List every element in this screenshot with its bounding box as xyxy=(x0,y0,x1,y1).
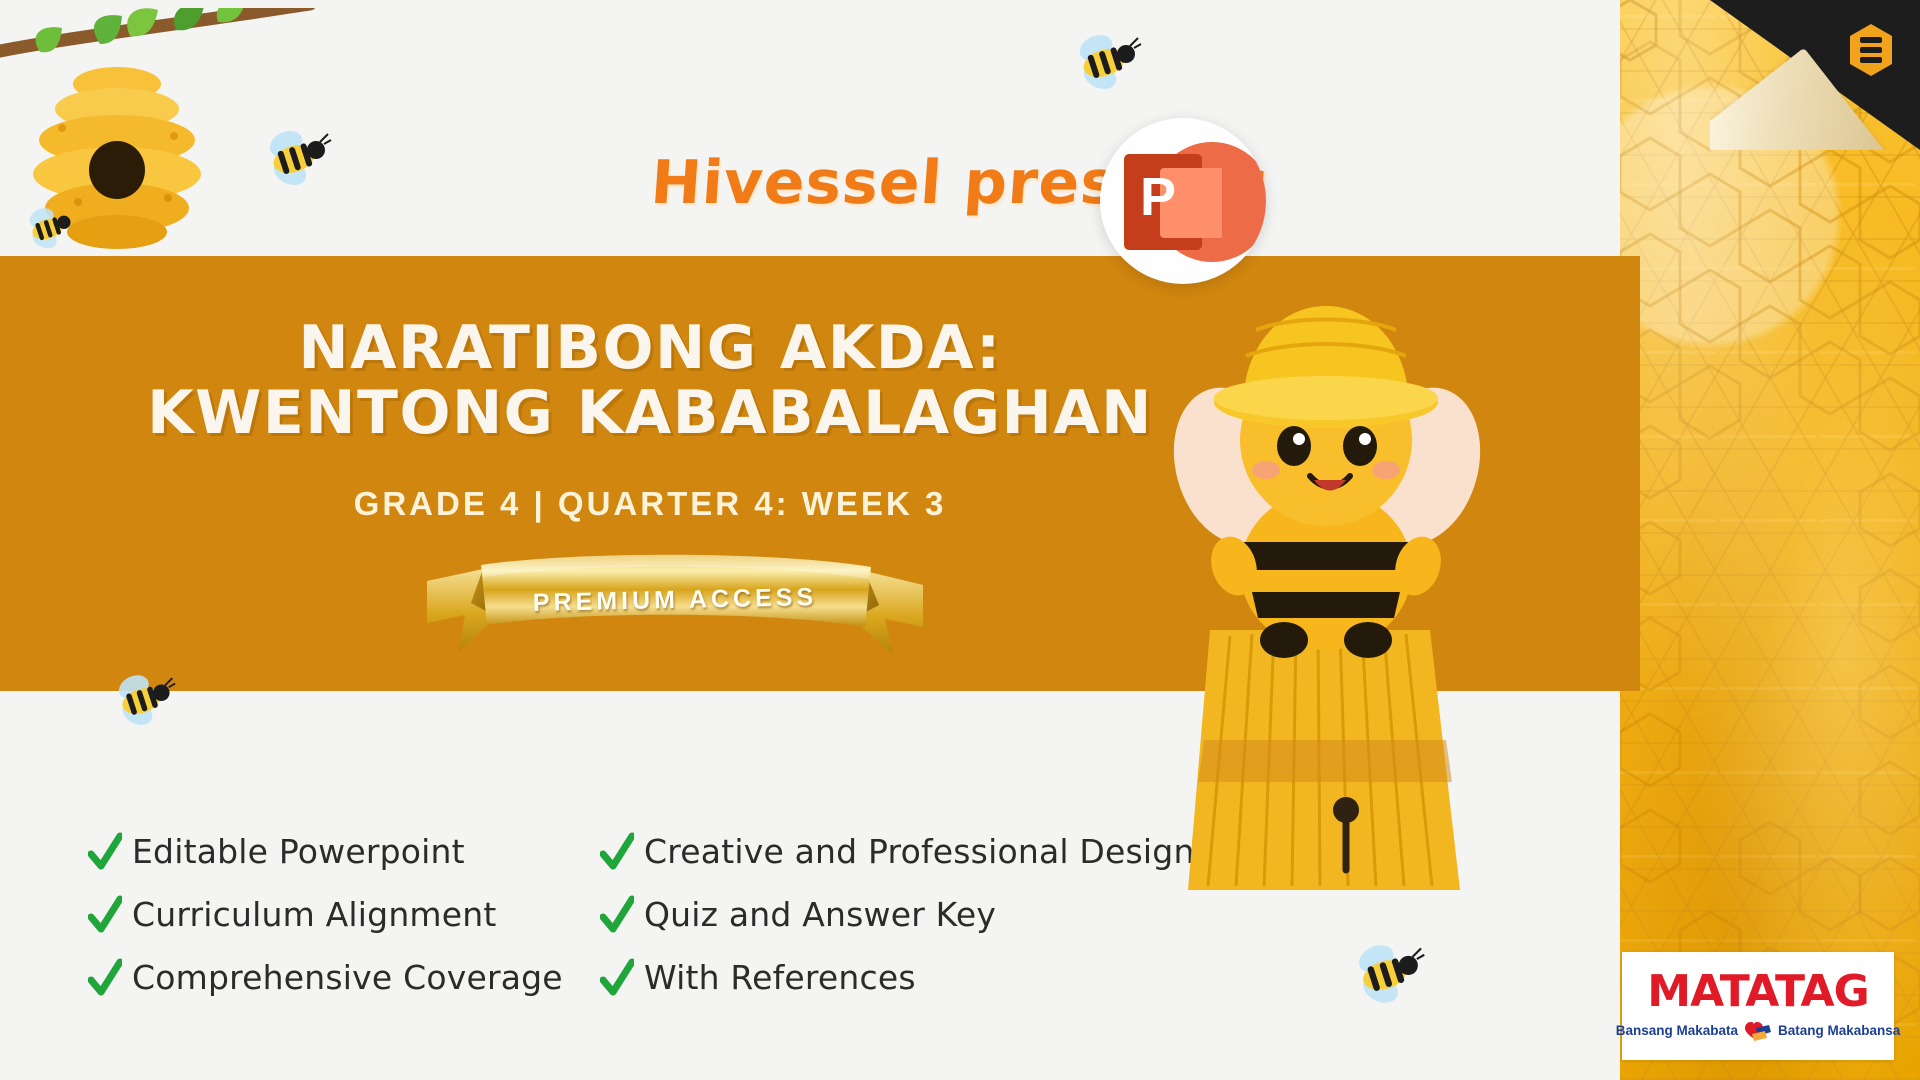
matatag-logo: MATATAG Bansang Makabata Batang Makabans… xyxy=(1622,952,1894,1060)
title-line-1: NARATIBONG AKDA: xyxy=(0,316,1300,381)
check-icon xyxy=(600,895,634,935)
powerpoint-letter: P xyxy=(1140,170,1176,224)
feature-label: Comprehensive Coverage xyxy=(132,958,563,997)
feature-label: With References xyxy=(644,958,916,997)
matatag-tagline: Bansang Makabata Batang Makabansa xyxy=(1616,1019,1901,1043)
page-title: NARATIBONG AKDA: KWENTONG KABABALAGHAN xyxy=(0,316,1300,446)
title-line-2: KWENTONG KABABALAGHAN xyxy=(0,381,1300,446)
hexagon-logo-icon xyxy=(1846,22,1896,78)
check-icon xyxy=(88,895,122,935)
feature-label: Creative and Professional Designs xyxy=(644,832,1212,871)
honeycomb-panel-icon xyxy=(1620,0,1920,1080)
matatag-tagline-left: Bansang Makabata xyxy=(1616,1023,1738,1038)
features-list: Editable Powerpoint Creative and Profess… xyxy=(88,820,1268,1009)
check-icon xyxy=(600,958,634,998)
bee-icon-4 xyxy=(1348,942,1426,1008)
feature-label: Curriculum Alignment xyxy=(132,895,497,934)
feature-item-curriculum-alignment: Curriculum Alignment xyxy=(88,883,588,946)
check-icon xyxy=(88,832,122,872)
check-icon xyxy=(600,832,634,872)
feature-item-comprehensive-coverage: Comprehensive Coverage xyxy=(88,946,588,1009)
matatag-wordmark: MATATAG xyxy=(1647,970,1868,1014)
feature-item-with-references: With References xyxy=(600,946,1220,1009)
powerpoint-icon: P xyxy=(1100,118,1266,284)
feature-item-quiz-answer-key: Quiz and Answer Key xyxy=(600,883,1220,946)
bee-icon-5 xyxy=(22,206,76,252)
feature-item-creative-designs: Creative and Professional Designs xyxy=(600,820,1220,883)
feature-label: Editable Powerpoint xyxy=(132,832,465,871)
bee-mascot-icon xyxy=(1160,270,1490,890)
check-icon xyxy=(88,958,122,998)
bee-icon-3 xyxy=(110,672,176,730)
feature-label: Quiz and Answer Key xyxy=(644,895,996,934)
title-subtitle: GRADE 4 | QUARTER 4: WEEK 3 xyxy=(0,485,1300,523)
feature-item-editable-powerpoint: Editable Powerpoint xyxy=(88,820,588,883)
premium-access-ribbon: PREMIUM ACCESS xyxy=(425,545,925,665)
heart-hands-icon xyxy=(1743,1019,1773,1043)
bee-icon-2 xyxy=(1070,32,1142,94)
matatag-tagline-right: Batang Makabansa xyxy=(1778,1023,1900,1038)
bee-icon-1 xyxy=(260,128,332,190)
